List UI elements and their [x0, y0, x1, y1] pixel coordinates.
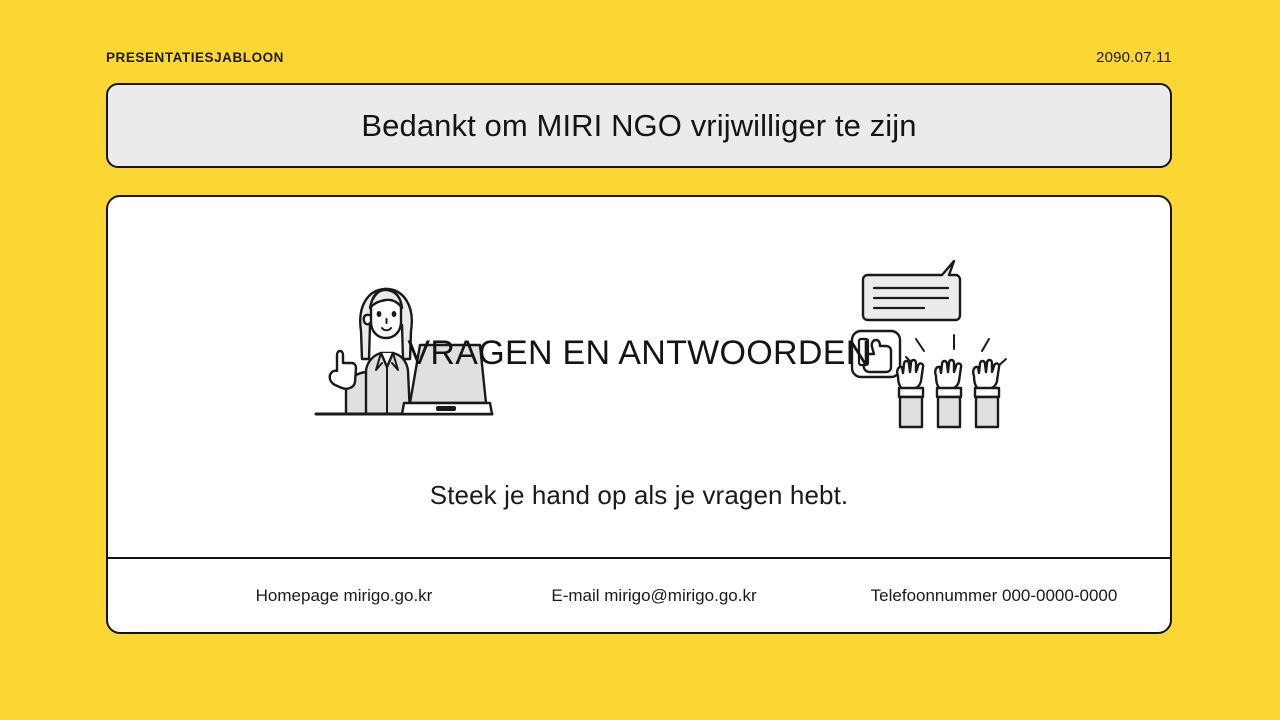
footer-phone: Telefoonnummer 000-0000-0000: [814, 586, 1172, 606]
slide-header: PRESENTATIESJABLOON 2090.07.11: [106, 45, 1172, 69]
slide-title: Bedankt om MIRI NGO vrijwilliger te zijn: [361, 108, 916, 144]
card-footer: Homepage mirigo.go.kr E-mail mirigo@miri…: [108, 557, 1170, 632]
woman-at-laptop-illustration: [314, 275, 494, 430]
footer-email: E-mail mirigo@mirigo.go.kr: [484, 586, 824, 606]
slide-title-bar: Bedankt om MIRI NGO vrijwilliger te zijn: [106, 83, 1172, 168]
slide-content-card: VRAGEN EN ANTWOORDEN Steek je hand op al…: [106, 195, 1172, 634]
slide-date: 2090.07.11: [1096, 49, 1172, 66]
speech-bubble-thumbsup-raised-hands-illustration: [846, 259, 1026, 431]
qa-subtitle: Steek je hand op als je vragen hebt.: [108, 480, 1170, 511]
card-body: VRAGEN EN ANTWOORDEN Steek je hand op al…: [108, 197, 1170, 560]
presentation-template-label: PRESENTATIESJABLOON: [106, 50, 284, 65]
footer-homepage: Homepage mirigo.go.kr: [194, 586, 494, 606]
